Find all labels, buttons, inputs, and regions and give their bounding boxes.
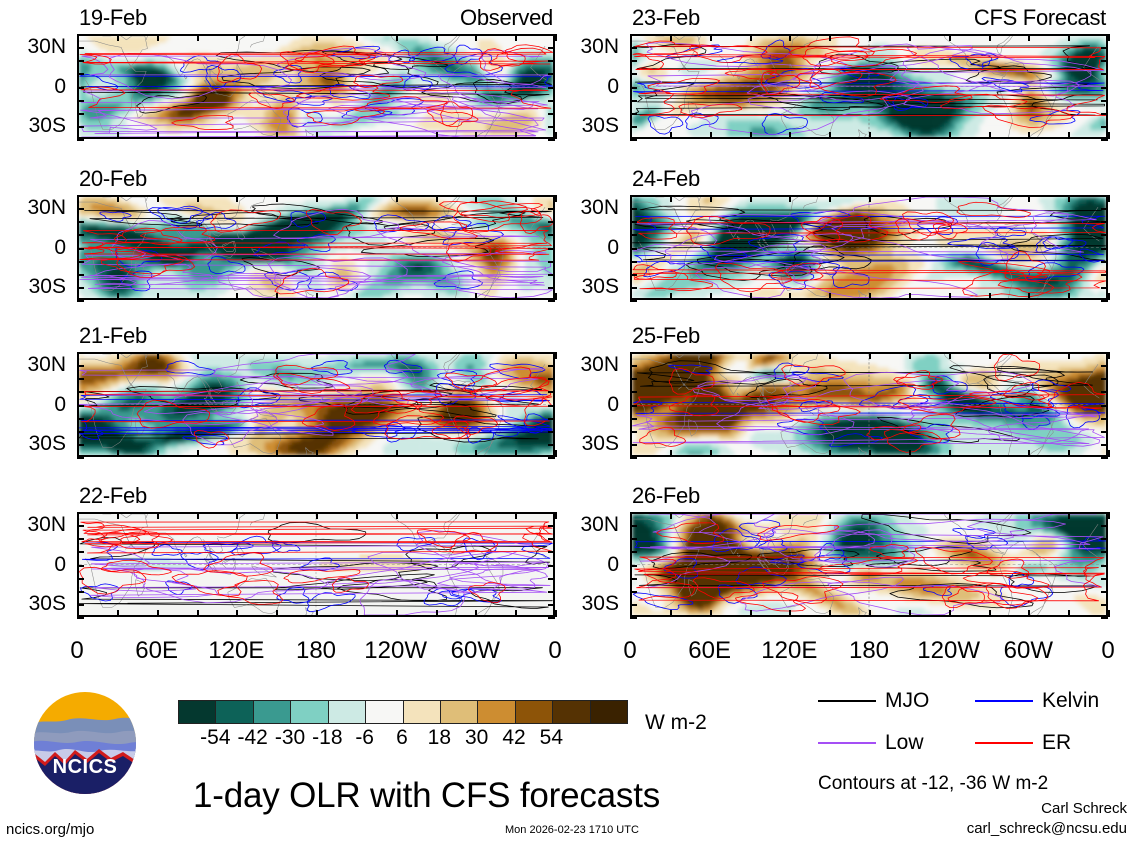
y-axis-label: 0 [0, 237, 66, 258]
x-axis-tick-label: 120W [364, 638, 427, 664]
colorbar-segment [478, 701, 515, 723]
colorbar-segment [441, 701, 478, 723]
colorbar-tick-label: -18 [312, 727, 342, 748]
y-axis-label: 30S [0, 433, 66, 454]
colorbar-tick-label: -6 [355, 727, 374, 748]
y-axis-label: 30N [0, 197, 66, 218]
y-axis-label: 0 [0, 76, 66, 97]
panel-plot-area [77, 34, 555, 139]
map-panel-20-feb: 20-Feb [77, 195, 555, 300]
colorbar-segment [553, 701, 590, 723]
colorbar-segment [216, 701, 253, 723]
panel-column-header: CFS Forecast [974, 7, 1106, 29]
panel-date-label: 19-Feb [79, 7, 147, 29]
legend-item-mjo: MJO [818, 690, 929, 711]
x-axis-tick-label: 0 [1101, 638, 1114, 664]
x-axis-tick-label: 120E [761, 638, 817, 664]
x-axis-tick-label: 60W [1004, 638, 1053, 664]
map-panel-26-feb: 26-Feb [630, 512, 1108, 617]
y-axis-label: 30S [545, 276, 619, 297]
legend-line-swatch [818, 700, 876, 702]
legend-item-er: ER [975, 732, 1071, 753]
colorbar-tick-label: -42 [237, 727, 267, 748]
panel-svg [632, 514, 1106, 615]
x-axis-right: 060E120E180120W60W0 [630, 638, 1108, 664]
legend-label: Low [885, 732, 924, 753]
panel-plot-area [630, 195, 1108, 300]
panel-date-label: 22-Feb [79, 485, 147, 507]
panel-svg [79, 36, 553, 137]
legend-item-low: Low [818, 732, 924, 753]
x-axis-tick-label: 0 [548, 638, 561, 664]
panel-date-label: 20-Feb [79, 168, 147, 190]
map-panel-21-feb: 21-Feb [77, 352, 555, 457]
panel-date-label: 25-Feb [632, 325, 700, 347]
panel-plot-area [630, 352, 1108, 457]
map-panel-24-feb: 24-Feb [630, 195, 1108, 300]
y-axis-label: 30S [0, 115, 66, 136]
legend-label: MJO [885, 690, 929, 711]
map-panel-22-feb: 22-Feb [77, 512, 555, 617]
legend-line-swatch [818, 742, 876, 744]
colorbar-segment [179, 701, 216, 723]
y-axis-label: 30N [545, 354, 619, 375]
y-axis-label: 30N [0, 354, 66, 375]
y-axis-label: 30S [0, 276, 66, 297]
y-axis-label: 0 [545, 394, 619, 415]
legend-line-swatch [975, 700, 1033, 702]
colorbar-segment [404, 701, 441, 723]
colorbar-segment [291, 701, 328, 723]
panel-plot-area [77, 512, 555, 617]
panel-plot-area [77, 352, 555, 457]
panel-plot-area [630, 34, 1108, 139]
y-axis-label: 30S [0, 593, 66, 614]
y-axis-label: 30N [545, 514, 619, 535]
ncics-logo-text: NCICS [25, 756, 145, 779]
main-title: 1-day OLR with CFS forecasts [193, 778, 660, 813]
x-axis-tick-label: 180 [849, 638, 889, 664]
colorbar-segment [516, 701, 553, 723]
colorbar-segment [329, 701, 366, 723]
panel-date-label: 24-Feb [632, 168, 700, 190]
y-axis-label: 0 [545, 76, 619, 97]
map-panel-19-feb: 19-FebObserved [77, 34, 555, 139]
colorbar-tick-label: 54 [540, 727, 563, 748]
x-axis-tick-label: 120W [917, 638, 980, 664]
author-name: Carl Schreck [1041, 800, 1127, 818]
panel-date-label: 23-Feb [632, 7, 700, 29]
panel-column-header: Observed [460, 7, 553, 29]
colorbar [178, 700, 628, 724]
x-axis-tick-label: 60E [135, 638, 178, 664]
colorbar-tick-label: -30 [275, 727, 305, 748]
panel-svg [632, 197, 1106, 298]
colorbar-tick-label: -54 [200, 727, 230, 748]
legend-label: Kelvin [1042, 690, 1099, 711]
colorbar-tick-label: 30 [465, 727, 488, 748]
y-axis-label: 30N [0, 514, 66, 535]
y-axis-label: 0 [545, 237, 619, 258]
legend-line-swatch [975, 742, 1033, 744]
panel-plot-area [77, 195, 555, 300]
map-panel-25-feb: 25-Feb [630, 352, 1108, 457]
author-email: carl_schreck@ncsu.edu [967, 820, 1127, 838]
colorbar-tick-label: 18 [428, 727, 451, 748]
x-axis-left: 060E120E180120W60W0 [77, 638, 555, 664]
panel-plot-area [630, 512, 1108, 617]
y-axis-label: 30S [545, 593, 619, 614]
legend-label: ER [1042, 732, 1071, 753]
x-axis-tick-label: 60E [688, 638, 731, 664]
colorbar-tick-label: 42 [502, 727, 525, 748]
panel-svg [79, 354, 553, 455]
site-url[interactable]: ncics.org/mjo [6, 822, 94, 837]
contour-note: Contours at -12, -36 W m-2 [818, 774, 1048, 793]
legend: MJOKelvinLowER [818, 690, 1118, 760]
map-panel-23-feb: 23-FebCFS Forecast [630, 34, 1108, 139]
y-axis-label: 30N [0, 36, 66, 57]
y-axis-label: 0 [545, 554, 619, 575]
figure-root: 19-FebObserved 20-Feb 21-Feb [0, 0, 1135, 844]
y-axis-label: 30N [545, 197, 619, 218]
ncics-logo: NCICS [25, 692, 145, 794]
x-axis-tick-label: 0 [70, 638, 83, 664]
panel-date-label: 21-Feb [79, 325, 147, 347]
y-axis-label: 0 [0, 554, 66, 575]
colorbar-segment [591, 701, 627, 723]
y-axis-label: 30N [545, 36, 619, 57]
colorbar-tick-label: 6 [396, 727, 408, 748]
y-axis-label: 30S [545, 115, 619, 136]
colorbar-unit: W m-2 [645, 712, 707, 733]
panel-svg [79, 514, 553, 615]
x-axis-tick-label: 180 [296, 638, 336, 664]
panel-svg [79, 197, 553, 298]
timestamp: Mon 2026-02-23 1710 UTC [505, 825, 639, 836]
panel-svg [632, 36, 1106, 137]
x-axis-tick-label: 60W [451, 638, 500, 664]
panel-svg [632, 354, 1106, 455]
x-axis-tick-label: 120E [208, 638, 264, 664]
x-axis-tick-label: 0 [623, 638, 636, 664]
legend-item-kelvin: Kelvin [975, 690, 1099, 711]
panel-date-label: 26-Feb [632, 485, 700, 507]
colorbar-segment [366, 701, 403, 723]
colorbar-segment [254, 701, 291, 723]
y-axis-label: 0 [0, 394, 66, 415]
y-axis-label: 30S [545, 433, 619, 454]
